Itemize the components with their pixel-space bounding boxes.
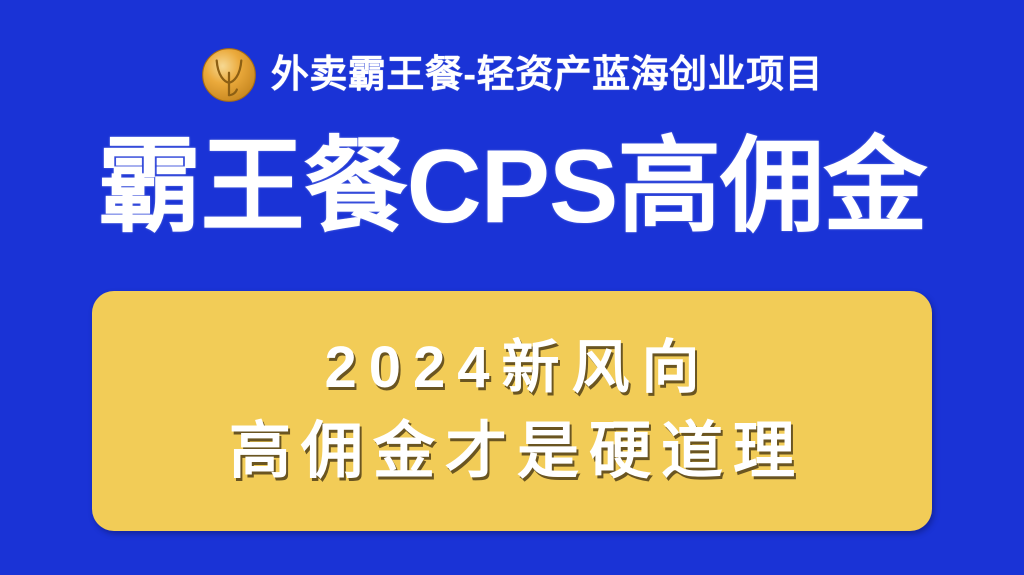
tulip-circle-logo-icon: [201, 47, 257, 103]
header-title: 外卖霸王餐-轻资产蓝海创业项目: [271, 56, 823, 94]
highlight-line-1: 2024新风向: [312, 336, 711, 400]
highlight-line-2: 高佣金才是硬道理: [219, 418, 805, 486]
main-headline: 霸王餐CPS高佣金: [0, 128, 1024, 248]
poster-canvas: 外卖霸王餐-轻资产蓝海创业项目 霸王餐CPS高佣金 2024新风向 高佣金才是硬…: [0, 0, 1024, 575]
highlight-panel: 2024新风向 高佣金才是硬道理: [92, 291, 932, 531]
header-row: 外卖霸王餐-轻资产蓝海创业项目: [0, 42, 1024, 108]
